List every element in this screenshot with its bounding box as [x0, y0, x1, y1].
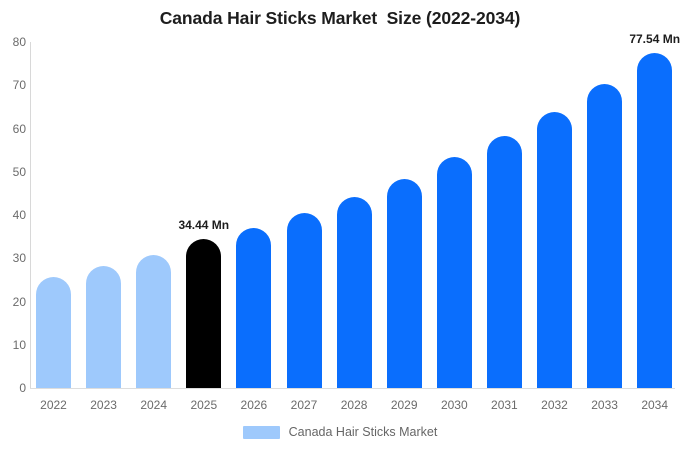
- bar-2024[interactable]: [136, 255, 171, 388]
- y-tick-label: 80: [0, 36, 26, 48]
- bar-2030[interactable]: [437, 157, 472, 388]
- bar-2031[interactable]: [487, 136, 522, 388]
- y-tick-label: 70: [0, 79, 26, 91]
- bar-2022[interactable]: [36, 277, 71, 388]
- value-label-2034: 77.54 Mn: [629, 32, 680, 46]
- bar-2026[interactable]: [236, 228, 271, 388]
- bar-2025[interactable]: [186, 239, 221, 388]
- y-tick-label: 20: [0, 296, 26, 308]
- bar-2033[interactable]: [587, 84, 622, 388]
- value-label-2025: 34.44 Mn: [178, 218, 229, 232]
- y-tick-label: 50: [0, 166, 26, 178]
- y-tick-label: 0: [0, 382, 26, 394]
- y-tick-label: 40: [0, 209, 26, 221]
- legend-label: Canada Hair Sticks Market: [289, 425, 438, 439]
- chart-container: Canada Hair Sticks Market Size (2022-203…: [0, 0, 680, 450]
- bar-2027[interactable]: [287, 213, 322, 388]
- plot-area: [30, 42, 675, 388]
- y-tick-label: 60: [0, 123, 26, 135]
- chart-title: Canada Hair Sticks Market Size (2022-203…: [0, 8, 680, 29]
- bar-2028[interactable]: [337, 197, 372, 388]
- x-axis-line: [30, 388, 675, 389]
- bar-2034[interactable]: [637, 53, 672, 388]
- bar-2023[interactable]: [86, 266, 121, 388]
- y-tick-label: 30: [0, 252, 26, 264]
- x-tick-label-2034: 2034: [625, 398, 680, 412]
- legend-swatch-icon: [243, 426, 280, 439]
- y-axis: 01020304050607080: [0, 42, 26, 388]
- bar-2029[interactable]: [387, 179, 422, 388]
- y-tick-label: 10: [0, 339, 26, 351]
- bar-2032[interactable]: [537, 112, 572, 388]
- chart-legend: Canada Hair Sticks Market: [0, 425, 680, 439]
- y-axis-line: [30, 42, 31, 388]
